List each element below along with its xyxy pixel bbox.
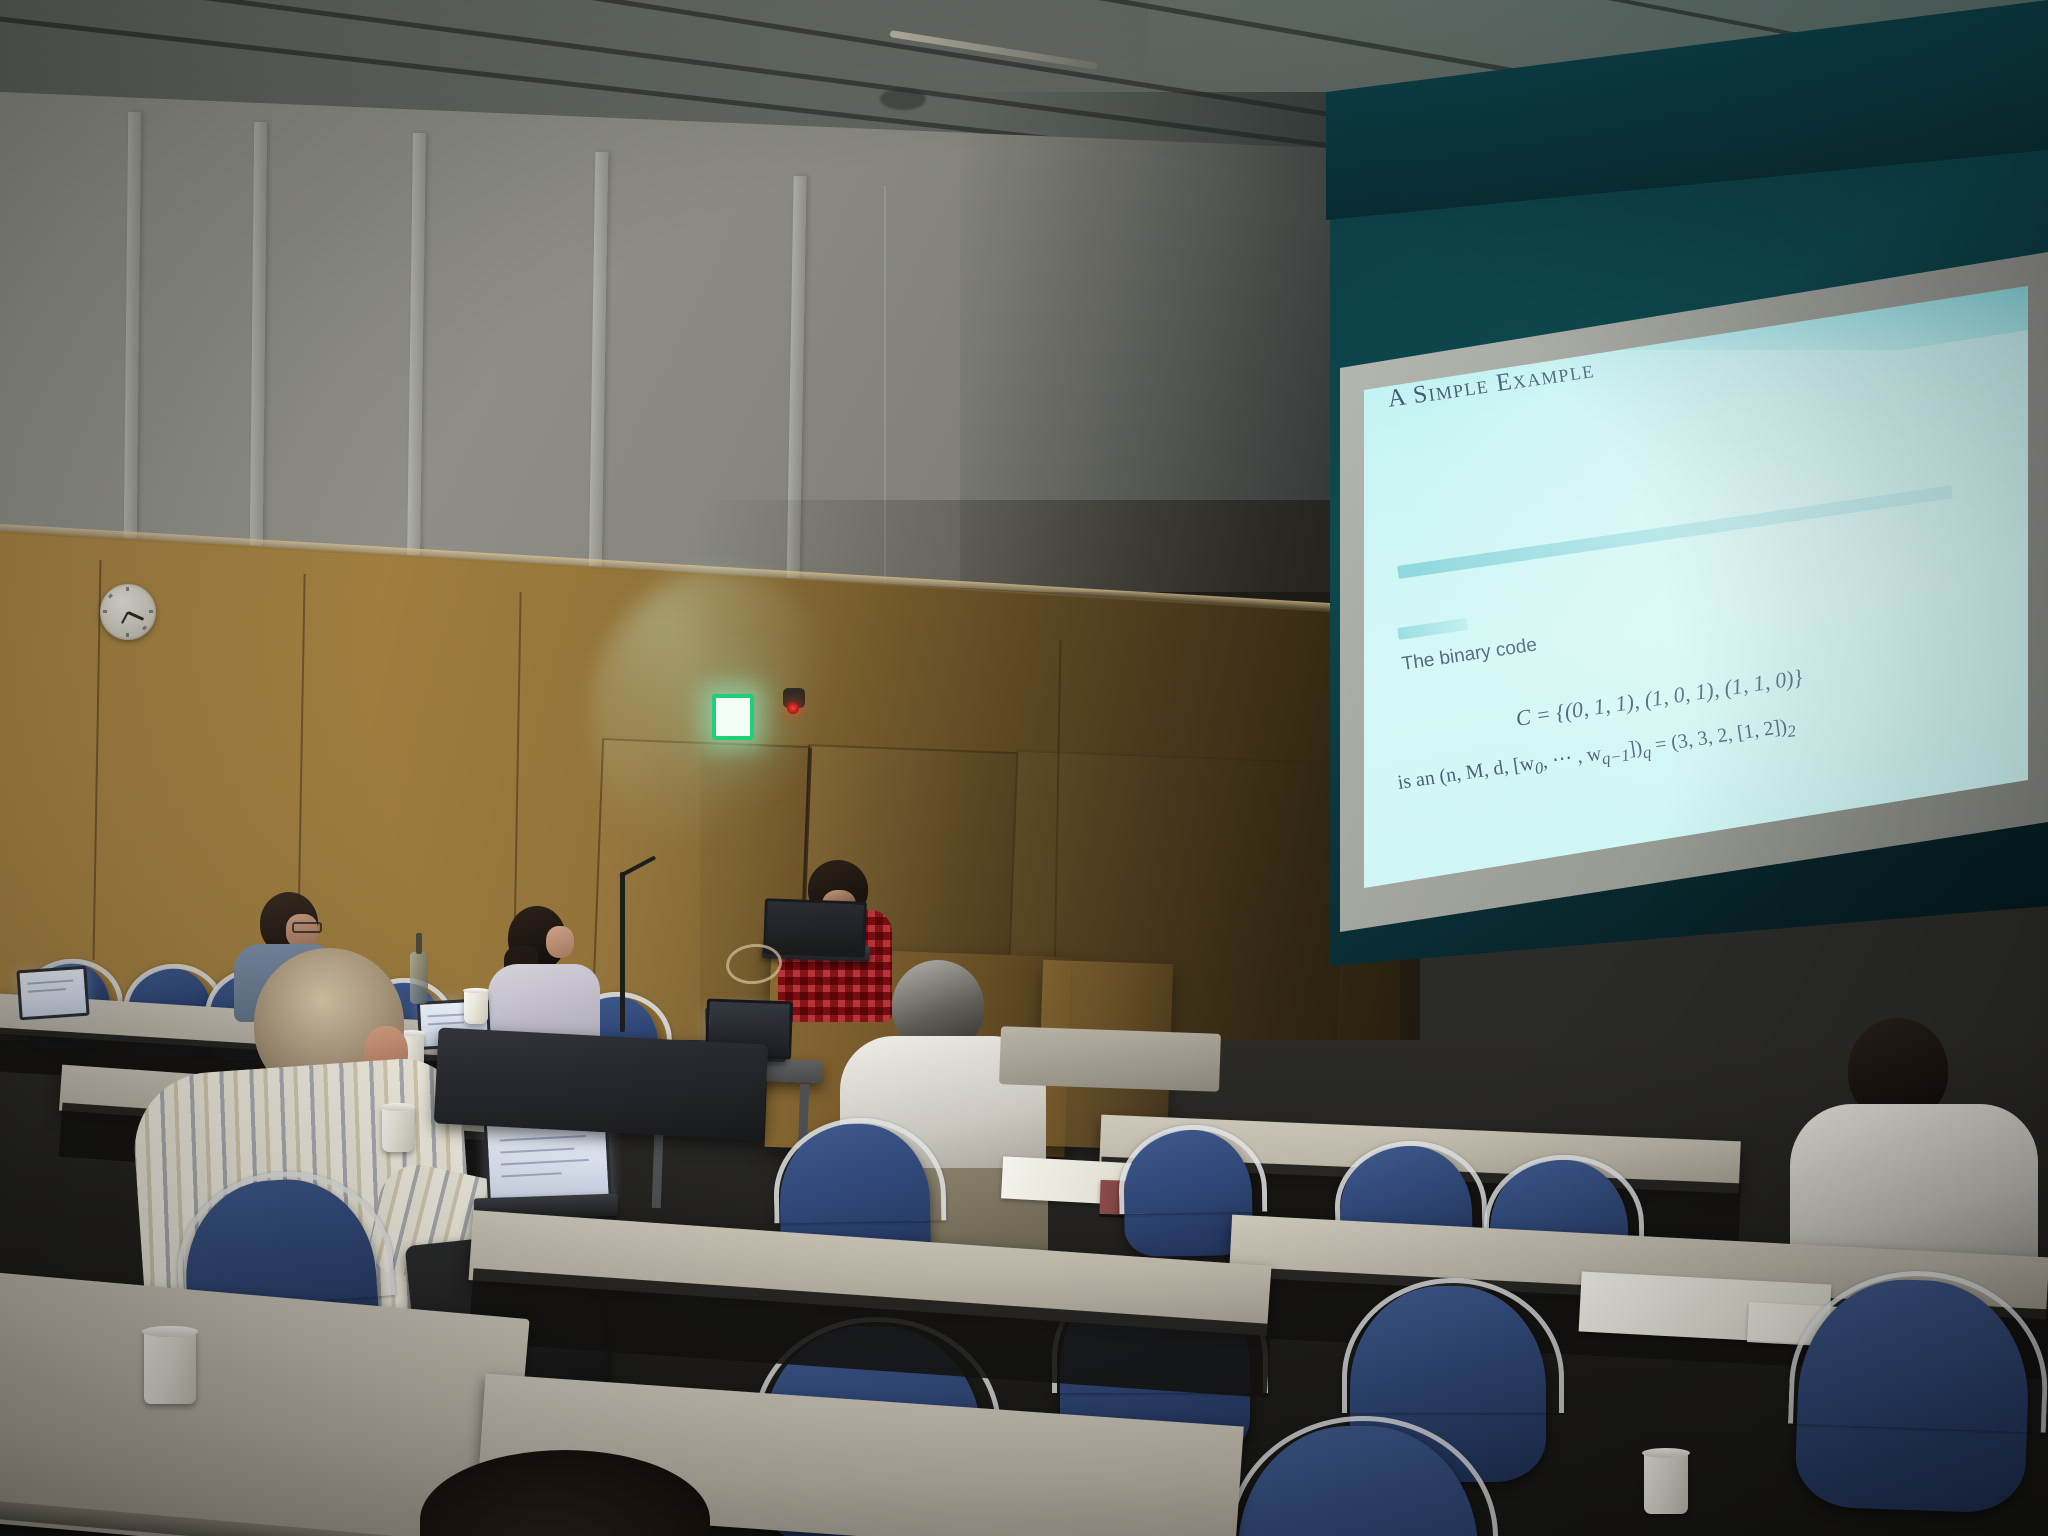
laptop-screen[interactable] [16, 966, 89, 1021]
slide-rule-upper [1397, 485, 1953, 579]
wall-clock [100, 584, 156, 640]
exit-sign-icon [712, 694, 754, 740]
param-sub-two: 2 [1786, 721, 1797, 741]
param-sub-qminus1: q−1 [1601, 745, 1631, 768]
param-close: ]) [1627, 737, 1643, 761]
red-indicator-lamp-icon [787, 702, 799, 714]
eyeglasses-icon [292, 922, 322, 933]
water-bottle[interactable] [410, 952, 428, 1004]
chair[interactable] [1794, 1276, 2032, 1514]
equipment-case [999, 1026, 1221, 1092]
paper-cup[interactable] [1644, 1452, 1688, 1514]
chair-frame [1118, 1124, 1268, 1215]
laptop-screen[interactable] [763, 898, 867, 958]
chair-frame [1788, 1267, 2048, 1433]
clock-hour-hand [127, 611, 144, 621]
param-prefix: is an (n, M, d, [w [1396, 752, 1535, 794]
clock-minute-hand [121, 612, 129, 624]
slide-intro-line: The binary code [1400, 634, 1538, 675]
param-mid: , ⋯ , w [1541, 742, 1603, 772]
slide-equation-parameters: is an (n, M, d, [w0, ⋯ , wq−1])q = (3, 3… [1396, 712, 1797, 799]
chair-frame [1228, 1416, 1497, 1536]
chair-frame [171, 1165, 395, 1310]
paper-cup[interactable] [464, 990, 488, 1024]
slide-rule-lower [1397, 618, 1468, 640]
lecture-hall-photo: A Simple Example The binary code C = {(0… [0, 0, 2048, 1536]
face [546, 926, 574, 958]
chair-frame [773, 1116, 947, 1223]
chair[interactable] [1238, 1426, 1478, 1536]
chair-frame [1334, 1139, 1488, 1231]
paper-cup[interactable] [382, 1106, 414, 1152]
ceiling-vent [880, 88, 926, 110]
paper-cup[interactable] [144, 1330, 196, 1404]
chair-frame [1342, 1278, 1564, 1412]
microphone-stand [620, 872, 625, 1032]
equipment-console [434, 1027, 769, 1140]
param-equals: = (3, 3, 2, [1, 2]) [1649, 715, 1789, 757]
